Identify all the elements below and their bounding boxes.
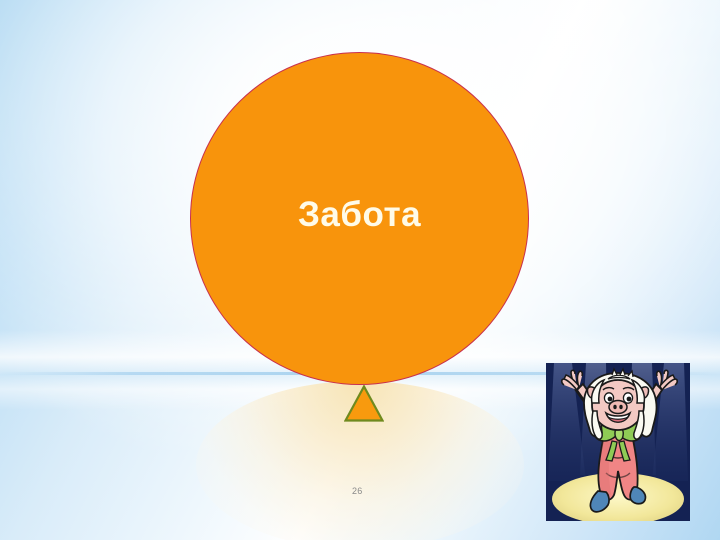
circle-icon[interactable]: Забота (190, 52, 529, 385)
slide-number: 26 (352, 486, 363, 496)
triangle-icon[interactable] (344, 385, 384, 422)
cartoon-pig-illustration[interactable] (546, 363, 690, 521)
presentation-slide: Забота (0, 0, 720, 540)
circle-label: Забота (298, 197, 421, 232)
